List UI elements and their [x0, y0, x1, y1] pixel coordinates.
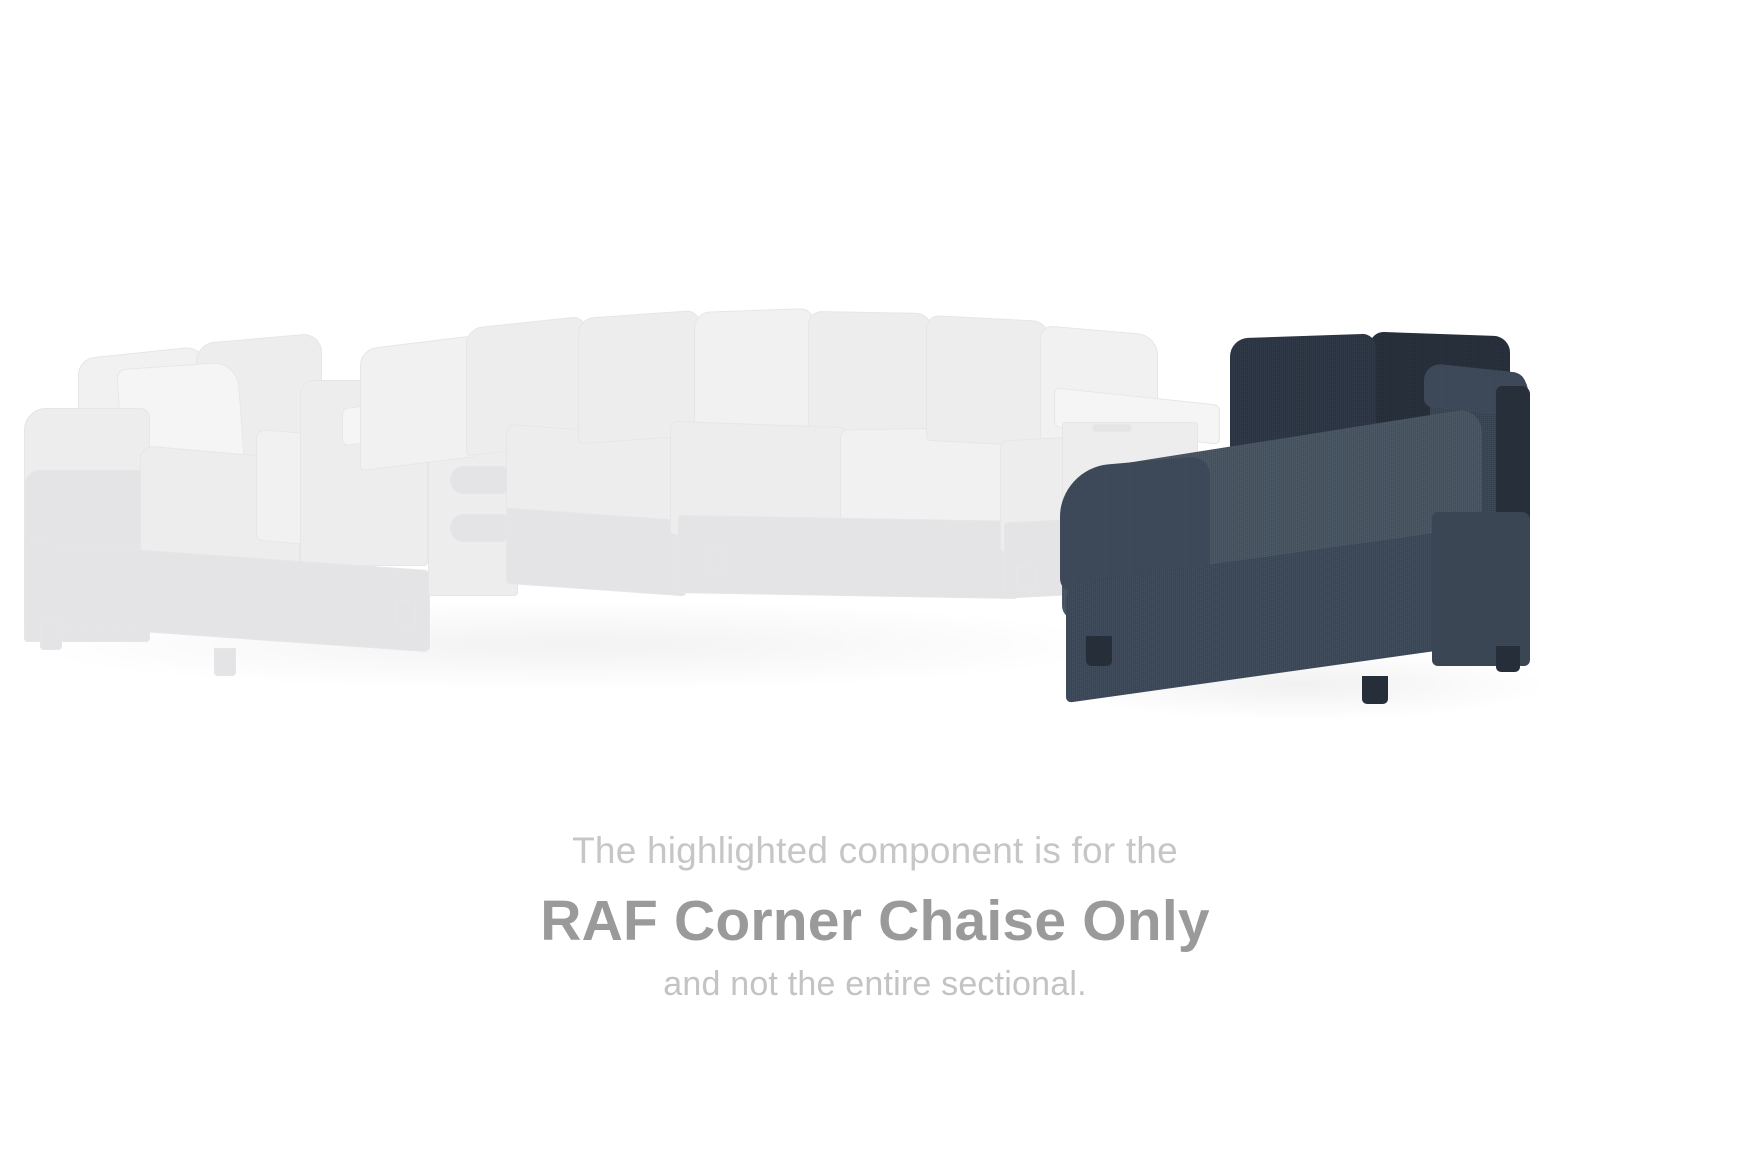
chaise-base-right-face [1432, 512, 1530, 666]
ghost-wedge-back-2 [694, 308, 814, 438]
caption-line-3: and not the entire sectional. [0, 965, 1750, 1004]
ghost-power-button-upper [450, 466, 514, 494]
chaise-leg-back-right [1496, 646, 1520, 672]
ghost-armless-left-base [506, 508, 686, 597]
caption-component-name: RAF Corner Chaise Only [0, 888, 1750, 954]
ghost-armless-left-back [360, 335, 478, 471]
ghost-wedge-base [678, 515, 1018, 599]
fabric-weave-texture [1432, 512, 1530, 666]
ghost-armless-right-back [926, 315, 1050, 447]
product-image-canvas: The highlighted component is for the RAF… [0, 0, 1750, 1167]
ghost-wedge-back-3 [808, 311, 932, 439]
ghost-leg-3 [396, 600, 416, 626]
caption-line-1: The highlighted component is for the [0, 830, 1750, 872]
ghost-wedge-leg [706, 548, 726, 572]
ghost-leg-1 [40, 620, 62, 650]
ghost-armless-right-leg [1016, 566, 1036, 590]
ghost-power-button-lower [450, 514, 514, 542]
ghost-leg-2 [214, 648, 236, 676]
chaise-leg-front-left [1086, 636, 1112, 666]
ghost-console-right-cupholder [1092, 424, 1132, 432]
chaise-leg-front-right [1362, 676, 1388, 704]
